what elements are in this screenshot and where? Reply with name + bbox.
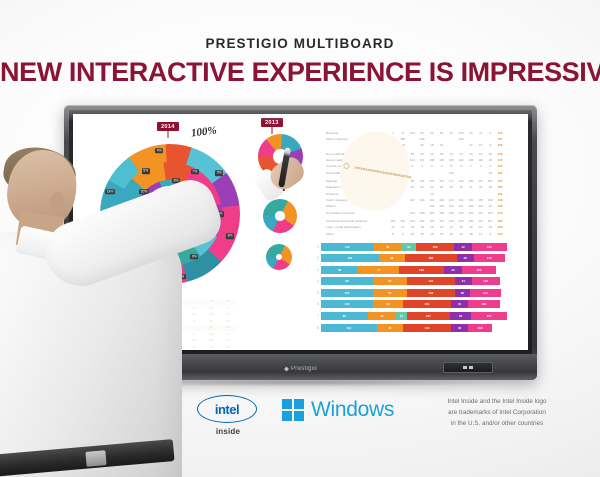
bar-segment[interactable]: 77 (358, 266, 399, 274)
table-cell: 145 (495, 158, 505, 162)
bar-row[interactable]: 81104614430118 (315, 323, 507, 332)
bar-segment[interactable]: 119 (321, 254, 379, 262)
windows-pane-icon (294, 411, 304, 421)
table-cell: 128 (495, 225, 505, 229)
table-cell: 110 (476, 158, 486, 162)
table-cell: 100 (447, 171, 457, 175)
bar-segment[interactable]: 42 (368, 312, 397, 320)
bar-segment[interactable]: 49 (373, 300, 403, 308)
bar-track: 687713833160 (321, 266, 507, 274)
table-cell: 18 (476, 152, 486, 156)
table-cell: 101 (476, 204, 486, 208)
bar-track: 1045214828141 (321, 289, 507, 297)
intel-logo: intel inside (197, 395, 259, 436)
bar-segment[interactable]: 157 (471, 312, 507, 320)
table-row[interactable]: Shares10210110310110410191126 (315, 204, 505, 209)
table-cell: 110 (495, 232, 505, 236)
table-cell: 21 (466, 185, 476, 189)
table-cell: 18 (408, 225, 418, 229)
table-cell: 101 (388, 219, 398, 223)
table-cell: 108 (427, 158, 437, 162)
table-cell: 20 (476, 185, 486, 189)
table-row[interactable]: Other expenses188138193197 (315, 136, 505, 141)
bar-segment[interactable]: 110 (321, 324, 377, 332)
device-brand-label: Prestigio (291, 366, 317, 372)
bar-segment[interactable]: 96 (321, 312, 368, 320)
bar-track: 1104614430118 (321, 324, 507, 332)
table-cell: 101 (466, 211, 476, 215)
table-cell: 14 (398, 225, 408, 229)
table-cell: 100 (456, 219, 466, 223)
table-cell: 22 (466, 143, 476, 147)
table-cell: 13 (476, 232, 486, 236)
table-cell: 19 (456, 232, 466, 236)
bar-segment[interactable]: 39 (402, 243, 416, 251)
port-slot-icon (469, 366, 473, 369)
table-header-cell: 162 (406, 175, 411, 180)
table-cell: 101 (437, 219, 447, 223)
table-cell: 103 (447, 204, 457, 208)
bar-segment[interactable]: 167 (407, 312, 450, 320)
table-cell: 104 (466, 204, 476, 208)
table-cell: 9 (398, 131, 408, 135)
bar-segment[interactable]: 144 (403, 324, 451, 332)
table-cell: 147 (476, 179, 486, 183)
table-cell: 28 (486, 185, 496, 189)
bar-row[interactable]: 796423116746157 (315, 312, 507, 321)
table-cell: 104 (417, 198, 427, 202)
handwritten-annotation: 100% (190, 124, 217, 139)
table-cell: 126 (495, 204, 505, 208)
table-cell: 131 (495, 192, 505, 196)
donut-hole (275, 211, 285, 221)
promo-banner: PRESTIGIO MULTIBOARD NEW INTERACTIVE EXP… (0, 0, 600, 477)
table-cell: 108 (417, 211, 427, 215)
table-cell: 103 (456, 131, 466, 135)
table-cell: 22 (427, 131, 437, 135)
table-cell: 162 (495, 219, 505, 223)
trademark-line: are trademarks of Intel Corporation (404, 407, 590, 418)
table-cell: 20 (408, 185, 418, 189)
bar-segment[interactable]: 42 (454, 243, 472, 251)
table-cell: 14 (447, 225, 457, 229)
table-cell: 18 (466, 225, 476, 229)
table-cell: 102 (466, 179, 476, 183)
table-cell: 102 (466, 219, 476, 223)
table-cell: 16 (427, 192, 437, 196)
table-cell: 104 (408, 211, 418, 215)
table-cell: 105 (466, 158, 476, 162)
table-cell: 30 (417, 143, 427, 147)
bar-segment[interactable]: 38 (457, 254, 474, 262)
table-cell: 121 (437, 179, 447, 183)
presenter-belt-buckle (85, 450, 106, 467)
table-cell: 138 (417, 137, 427, 141)
table-cell: 18 (466, 232, 476, 236)
table-cell: 20 (417, 152, 427, 156)
bar-segment[interactable]: 188 (405, 254, 457, 262)
table-cell: 104 (427, 211, 437, 215)
bar-segment[interactable]: 30 (451, 324, 468, 332)
bar-row[interactable]: 61024915131139 (315, 300, 507, 309)
control-port[interactable] (443, 362, 493, 373)
table-cell: 106 (456, 211, 466, 215)
table-cell: 18 (427, 232, 437, 236)
table-cell: 18 (456, 225, 466, 229)
table-cell: 88 (408, 179, 418, 183)
bar-segment[interactable]: 31 (396, 312, 407, 320)
table-cell: 24 (427, 185, 437, 189)
table-cell: 104 (427, 179, 437, 183)
bar-segment[interactable]: 33 (444, 266, 463, 274)
donut-chart-extra[interactable] (266, 244, 292, 270)
table-cell: 20 (417, 131, 427, 135)
table-cell: 187 (486, 179, 496, 183)
table-cell: 108 (486, 198, 496, 202)
bar-track: 1194818838140 (321, 254, 507, 262)
table-cell: 126 (495, 164, 505, 168)
bar-row[interactable]: 4985514234138 (315, 277, 507, 286)
bar-segment[interactable]: 115 (321, 243, 374, 251)
table-cell: 9 (456, 164, 466, 168)
table-cell: 105 (447, 158, 457, 162)
table-cell: 102 (495, 143, 505, 147)
bar-segment[interactable]: 98 (321, 277, 373, 285)
table-cell: 16 (476, 225, 486, 229)
table-cell: 9 (486, 143, 496, 147)
table-cell: 163 (495, 185, 505, 189)
table-cell: 100 (408, 198, 418, 202)
table-cell: 21 (437, 143, 447, 147)
bar-row[interactable]: 51045214828141 (315, 288, 507, 297)
bar-segment[interactable]: 142 (407, 277, 455, 285)
bar-segment[interactable]: 140 (474, 254, 506, 262)
table-row[interactable]: Insurance and credit schemes101101104102… (315, 218, 505, 223)
table-cell: 9 (427, 164, 437, 168)
table-cell: 28 (408, 152, 418, 156)
table-cell: 104 (408, 131, 418, 135)
bar-segment[interactable]: 104 (321, 289, 373, 297)
table-cell: 9 (398, 232, 408, 236)
table-row-label: Insurance and credit schemes (315, 219, 388, 223)
bar-segment[interactable]: 45 (374, 243, 402, 251)
bar-segment[interactable]: 46 (450, 312, 471, 320)
trademark-notice: Intel Inside and the Intel Inside logoar… (404, 396, 590, 429)
windows-pane-icon (282, 411, 292, 421)
table-cell: 108 (437, 211, 447, 215)
table-cell: 25 (417, 185, 427, 189)
table-cell: 11 (476, 131, 486, 135)
bar-segment[interactable]: 52 (373, 289, 406, 297)
table-cell: 148 (495, 198, 505, 202)
table-cell: 110 (495, 152, 505, 156)
table-cell: 16 (486, 152, 496, 156)
table-cell: 18 (408, 232, 418, 236)
table-cell: 4 (476, 164, 486, 168)
table-cell: 101 (456, 198, 466, 202)
table-cell: 8 (447, 164, 457, 168)
bar-track: 1024915131139 (321, 300, 507, 308)
table-cell: 101 (427, 198, 437, 202)
bar-segment[interactable]: 46 (377, 324, 403, 332)
table-cell: 101 (417, 179, 427, 183)
windows-logo: Windows (282, 398, 394, 422)
table-row[interactable]: Loan / credit participation1914181818181… (315, 225, 505, 230)
table-cell: 177 (447, 179, 457, 183)
table-cell: 41 (447, 131, 457, 135)
table-cell: 18 (447, 232, 457, 236)
bar-segment[interactable]: 163 (416, 243, 455, 251)
table-cell: 101 (456, 204, 466, 208)
table-cell: 21 (447, 152, 457, 156)
table-cell: 91 (486, 204, 496, 208)
windows-pane-icon (282, 399, 292, 409)
table-cell: 170 (495, 211, 505, 215)
table-cell: 102 (427, 204, 437, 208)
bar-segment[interactable]: 139 (468, 300, 500, 308)
bar-row[interactable]: 3687713833160 (315, 265, 507, 274)
table-group: Group 4101101104102103101102100102101107… (315, 218, 505, 236)
data-table[interactable]: Group 1791042022204110315115112Revenue79… (315, 130, 505, 239)
footer-logos: intel inside Windows Intel Inside and th… (0, 390, 600, 448)
table-cell: 18 (437, 225, 447, 229)
table-cell: 8 (388, 232, 398, 236)
bar-segment[interactable]: 118 (468, 324, 492, 332)
table-cell: 19 (466, 152, 476, 156)
table-group: Group 1791042022204110315115112Revenue79… (315, 130, 505, 148)
intel-tagline: inside (197, 427, 259, 436)
table-row[interactable]: Other8918181818181918139110 (315, 231, 505, 236)
intel-wordmark: intel (197, 395, 257, 423)
table-cell: 9 (486, 164, 496, 168)
table-cell: 7 (466, 164, 476, 168)
trademark-line: Intel Inside and the Intel Inside logo (404, 396, 590, 407)
table-cell: 197 (495, 137, 505, 141)
table-cell: 107 (486, 219, 496, 223)
table-cell: 112 (495, 131, 505, 135)
table-cell: 102 (447, 219, 457, 223)
table-cell: 24 (456, 152, 466, 156)
prestigio-mark-icon (284, 367, 289, 372)
table-cell: 101 (437, 204, 447, 208)
table-cell: 31 (427, 152, 437, 156)
table-cell: 30 (437, 185, 447, 189)
table-cell: 100 (466, 198, 476, 202)
windows-pane-icon (294, 399, 304, 409)
table-cell: 20 (437, 131, 447, 135)
bar-segment[interactable]: 28 (455, 289, 470, 297)
bar-segment[interactable]: 138 (472, 277, 500, 285)
table-cell: 20 (437, 152, 447, 156)
bar-segment[interactable]: 34 (455, 277, 472, 285)
table-cell: 18 (427, 225, 437, 229)
table-row[interactable]: Revenue791042022204110315115112 (315, 130, 505, 135)
device-brand-logo: Prestigio (284, 366, 317, 372)
bar-segment[interactable]: 151 (403, 300, 451, 308)
port-slot-icon (463, 366, 467, 369)
table-cell: 103 (456, 158, 466, 162)
table-cell: 5 (486, 131, 496, 135)
bar-row[interactable]: 1115453916342132 (315, 242, 507, 251)
table-row-label: Cumulative exposure (315, 211, 388, 215)
table-cell: 152 (495, 171, 505, 175)
table-cell: 107 (476, 211, 486, 215)
year-badge: 2013 (261, 118, 283, 127)
table-cell: 18 (437, 232, 447, 236)
donut-chart-2012[interactable] (263, 199, 297, 233)
table-cell: 16 (486, 225, 496, 229)
table-cell: 22 (447, 185, 457, 189)
table-cell: 101 (417, 158, 427, 162)
trademark-line: in the U.S. and/or other countries (404, 418, 590, 429)
bar-segment[interactable]: 148 (407, 289, 455, 297)
bar-row[interactable]: 21194818838140 (315, 254, 507, 263)
table-cell: 9 (486, 232, 496, 236)
windows-wordmark: Windows (311, 398, 394, 422)
table-cell: 105 (476, 198, 486, 202)
table-cell: 19 (486, 171, 496, 175)
year-badge: 2014 (157, 122, 179, 131)
bar-segment[interactable]: 141 (470, 289, 502, 297)
table-row[interactable]: Cash / category1001041011061031011001051… (315, 197, 505, 202)
table-cell: 103 (486, 211, 496, 215)
table-cell: 104 (408, 219, 418, 223)
table-cell: 193 (456, 137, 466, 141)
bar-segment[interactable]: 48 (379, 254, 405, 262)
table-cell: 18 (417, 225, 427, 229)
table-cell: 102 (456, 179, 466, 183)
table-row-label: Loan / credit participation (315, 225, 388, 229)
table-cell: 155 (495, 179, 505, 183)
bar-track: 115453916342132 (321, 243, 507, 251)
page-title: NEW INTERACTIVE EXPERIENCE IS IMPRESSIVE (0, 57, 600, 88)
table-cell: 108 (437, 158, 447, 162)
table-cell: 18 (417, 232, 427, 236)
table-cell: 26 (456, 185, 466, 189)
bar-track: 985514234138 (321, 277, 507, 285)
windows-icon (282, 399, 304, 421)
bar-segment[interactable]: 55 (373, 277, 406, 285)
table-cell: 101 (476, 219, 486, 223)
table-cell: 4 (417, 164, 427, 168)
table-cell: 103 (427, 219, 437, 223)
bar-track: 96423116746157 (321, 312, 507, 320)
bar-segment[interactable]: 160 (462, 266, 495, 274)
table-cell: 103 (447, 198, 457, 202)
table-row[interactable]: 10030182122109102 (315, 143, 505, 148)
table-row-label: Other (315, 232, 388, 236)
bar-segment[interactable]: 138 (399, 266, 444, 274)
table-cell: 101 (398, 219, 408, 223)
table-row[interactable]: Cumulative exposure104108104108106106101… (315, 210, 505, 215)
table-cell: 106 (437, 198, 447, 202)
table-cell: 10 (476, 143, 486, 147)
table-cell: 19 (388, 225, 398, 229)
table-cell: 18 (427, 143, 437, 147)
bar-segment[interactable]: 102 (321, 300, 373, 308)
product-kicker: PRESTIGIO MULTIBOARD (0, 36, 600, 51)
bar-segment[interactable]: 68 (321, 266, 358, 274)
table-cell: 106 (447, 211, 457, 215)
table-cell: 9 (437, 164, 447, 168)
table-cell: 18 (486, 158, 496, 162)
bar-segment[interactable]: 31 (451, 300, 468, 308)
table-cell: 15 (466, 131, 476, 135)
table-cell: 102 (417, 219, 427, 223)
bar-segment[interactable]: 132 (472, 243, 507, 251)
stacked-bar-chart[interactable]: 1115453916342132211948188381403687713833… (315, 242, 507, 335)
